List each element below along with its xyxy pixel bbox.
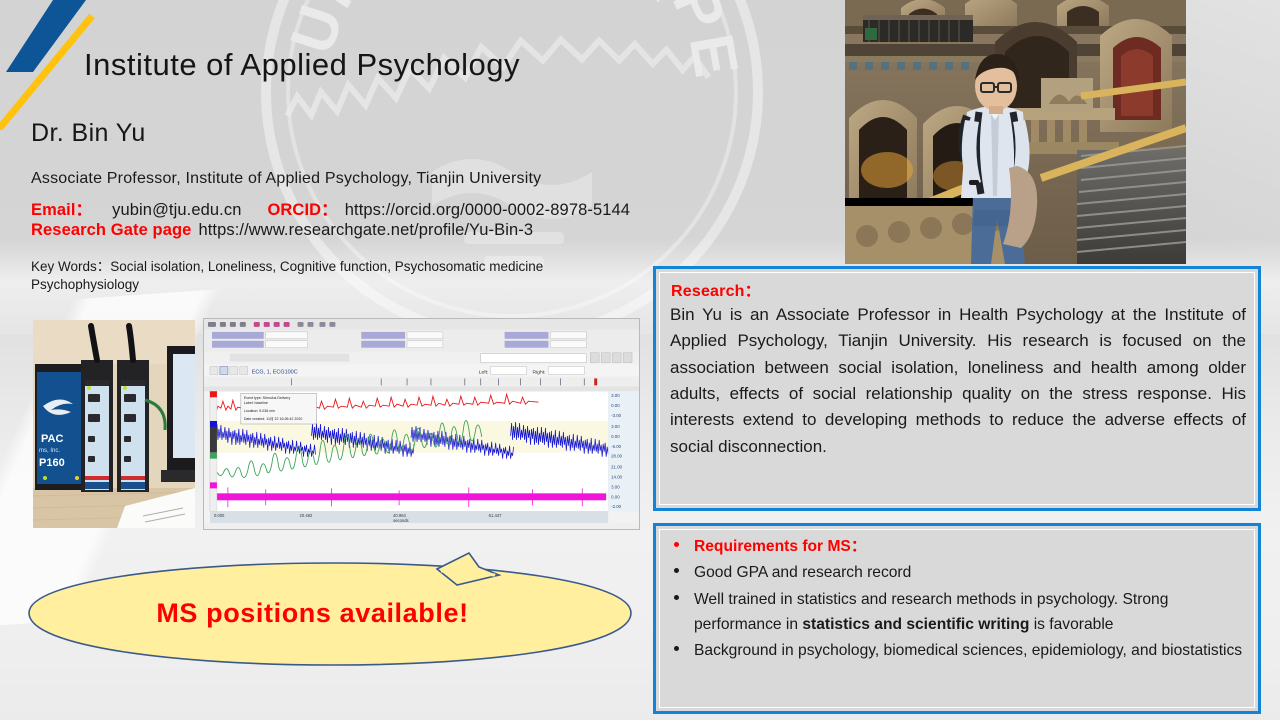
svg-text:Left:: Left: [479, 369, 489, 375]
svg-text:-3.00: -3.00 [611, 413, 622, 418]
svg-text:Location: 5.036 min: Location: 5.036 min [244, 409, 275, 413]
research-heading: Research： [671, 277, 761, 301]
requirement-item: Good GPA and research record [666, 560, 1246, 585]
requirement-item: Well trained in statistics and research … [666, 587, 1246, 638]
svg-text:28.00: 28.00 [611, 454, 623, 459]
svg-text:seconds: seconds [393, 518, 409, 523]
svg-text:3.00: 3.00 [611, 484, 620, 489]
portrait-photo [845, 0, 1186, 264]
svg-text:3.00: 3.00 [611, 424, 620, 429]
researchgate-value[interactable]: https://www.researchgate.net/profile/Yu-… [198, 221, 533, 239]
requirements-box: Requirements for MS：Good GPA and researc… [653, 523, 1261, 714]
requirement-item-label: Background in psychology, biomedical sci… [694, 642, 1242, 659]
keywords-line: Key Words：Social isolation, Loneliness, … [31, 258, 631, 294]
svg-text:Event type: Stimulus Delivery: Event type: Stimulus Delivery [244, 396, 291, 400]
svg-text:P160: P160 [39, 457, 65, 469]
orcid-value[interactable]: https://orcid.org/0000-0002-8978-5144 [345, 201, 630, 219]
acqknowledge-signal-window: ECG, 1, ECG100C Left: Right: [203, 318, 640, 530]
affiliation-line: Associate Professor, Institute of Applie… [31, 170, 541, 188]
contact-line-email: Email：yubin@tju.edu.cnORCID：https://orci… [31, 196, 630, 220]
svg-text:14.00: 14.00 [611, 474, 623, 479]
requirement-item-label: Good GPA and research record [694, 564, 911, 581]
svg-text:Right:: Right: [532, 369, 545, 375]
ms-positions-callout: MS positions available! [17, 551, 650, 671]
svg-text:0.00: 0.00 [611, 403, 620, 408]
bullet-icon [674, 568, 679, 573]
svg-text:0.00: 0.00 [611, 434, 620, 439]
page-title: Institute of Applied Psychology [84, 47, 520, 83]
email-value[interactable]: yubin@tju.edu.cn [112, 201, 241, 219]
svg-text:PAC: PAC [41, 433, 63, 445]
slide-canvas: UNIVERSITY (PEIYANG U Institute of Appli… [0, 0, 1280, 720]
requirement-item-label: Requirements for MS： [694, 538, 866, 555]
svg-text:0.00: 0.00 [611, 494, 620, 499]
svg-text:-6.00: -6.00 [611, 444, 622, 449]
requirements-list: Requirements for MS：Good GPA and researc… [666, 534, 1246, 664]
callout-text: MS positions available! [17, 598, 650, 629]
orcid-label: ORCID： [267, 201, 337, 219]
equipment-photo: PAC ms, Inc. P160 [33, 320, 195, 528]
researchgate-label: Research Gate page [31, 221, 191, 239]
svg-text:Date created: 11月 22 16:26:42: Date created: 11月 22 16:26:42 2020 [244, 416, 303, 421]
bullet-icon [674, 646, 679, 651]
research-body-text: Bin Yu is an Associate Professor in Heal… [670, 302, 1246, 460]
svg-text:ms, Inc.: ms, Inc. [39, 448, 60, 454]
svg-text:Label: baseline: Label: baseline [244, 401, 268, 405]
research-box: Research： Bin Yu is an Associate Profess… [653, 266, 1261, 511]
svg-text:ECG, 1, ECG100C: ECG, 1, ECG100C [252, 369, 298, 375]
bullet-icon [674, 542, 679, 547]
requirement-item: Requirements for MS： [666, 534, 1246, 559]
contact-line-researchgate: Research Gate pagehttps://www.researchga… [31, 221, 533, 240]
svg-text:20.482: 20.482 [300, 513, 313, 518]
person-name: Dr. Bin Yu [31, 119, 146, 148]
email-label: Email： [31, 201, 92, 219]
bullet-icon [674, 595, 679, 600]
svg-text:-2.00: -2.00 [611, 504, 622, 509]
svg-text:61.447: 61.447 [489, 513, 502, 518]
requirement-item-label: Well trained in statistics and research … [694, 591, 1168, 633]
svg-text:3.00: 3.00 [611, 393, 620, 398]
svg-text:0.000: 0.000 [214, 513, 225, 518]
svg-text:21.00: 21.00 [611, 465, 623, 470]
requirement-item: Background in psychology, biomedical sci… [666, 638, 1246, 663]
